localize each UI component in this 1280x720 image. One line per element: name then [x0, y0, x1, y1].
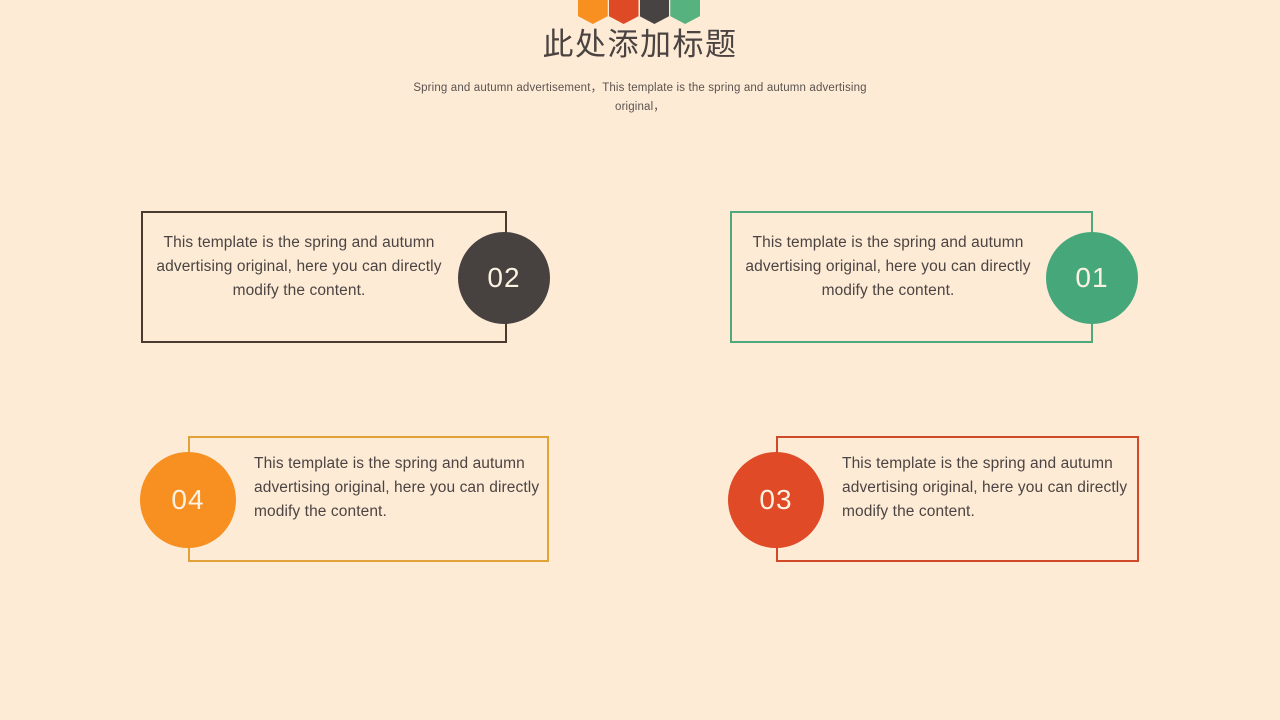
ribbon-tab-orange — [578, 0, 608, 24]
ribbon-tab-red — [609, 0, 639, 24]
ribbon-tab-dark — [640, 0, 670, 24]
card-number-badge-02[interactable]: 02 — [458, 232, 550, 324]
ribbon-decoration — [578, 0, 700, 24]
card-number-badge-04[interactable]: 04 — [140, 452, 236, 548]
card-body-text-04: This template is the spring and autumn a… — [254, 452, 544, 524]
page-subtitle: Spring and autumn advertisement，This tem… — [390, 79, 890, 117]
info-card-04[interactable]: This template is the spring and autumn a… — [188, 436, 549, 562]
card-body-text-01: This template is the spring and autumn a… — [738, 231, 1038, 303]
ribbon-tab-green — [670, 0, 700, 24]
card-body-text-02: This template is the spring and autumn a… — [149, 231, 449, 303]
card-number-badge-03[interactable]: 03 — [728, 452, 824, 548]
card-number-badge-01[interactable]: 01 — [1046, 232, 1138, 324]
info-card-03[interactable]: This template is the spring and autumn a… — [776, 436, 1139, 562]
card-body-text-03: This template is the spring and autumn a… — [842, 452, 1132, 524]
info-card-02[interactable]: This template is the spring and autumn a… — [141, 211, 507, 343]
page-title: 此处添加标题 — [0, 26, 1280, 64]
info-card-01[interactable]: This template is the spring and autumn a… — [730, 211, 1093, 343]
